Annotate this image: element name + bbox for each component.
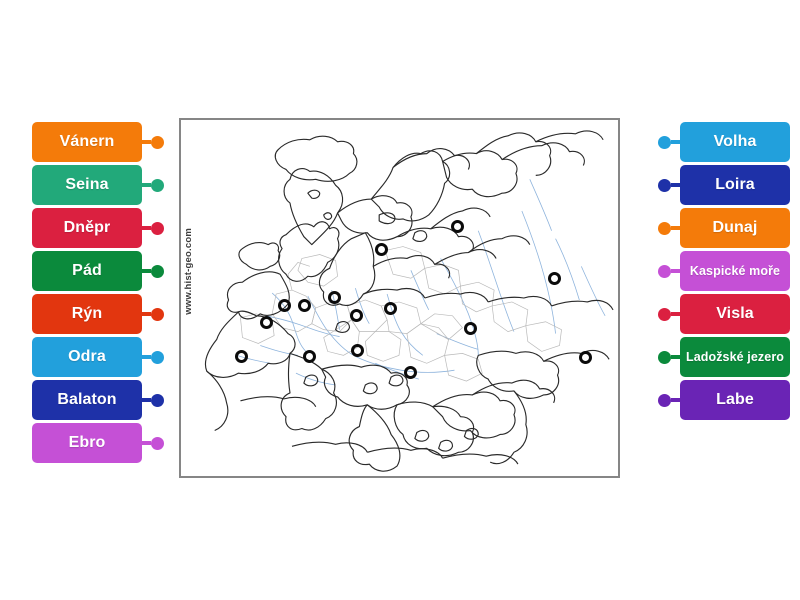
coastlines-layer xyxy=(206,131,614,471)
marker-rhine[interactable] xyxy=(298,299,311,312)
connector-line-icon xyxy=(142,312,151,316)
label-row[interactable]: Seina xyxy=(32,165,164,205)
connector-line-icon xyxy=(671,398,680,402)
left-connector-5[interactable] xyxy=(142,351,164,364)
label-row[interactable]: Odra xyxy=(32,337,164,377)
connector-line-icon xyxy=(142,355,151,359)
label-row[interactable]: Loira xyxy=(658,165,790,205)
right-label-chip-1[interactable]: Loira xyxy=(680,165,790,205)
right-label-column: VolhaLoiraDunajKaspické mořeVislaLadožsk… xyxy=(658,122,790,420)
connector-dot-icon[interactable] xyxy=(658,179,671,192)
connector-line-icon xyxy=(142,269,151,273)
left-connector-4[interactable] xyxy=(142,308,164,321)
connector-dot-icon[interactable] xyxy=(658,308,671,321)
connector-line-icon xyxy=(142,140,151,144)
marker-vanern[interactable] xyxy=(375,243,388,256)
left-label-chip-6[interactable]: Balaton xyxy=(32,380,142,420)
marker-ebro[interactable] xyxy=(235,350,248,363)
watermark-text: www.hist-geo.com xyxy=(183,228,194,315)
marker-seine[interactable] xyxy=(278,299,291,312)
map-frame[interactable]: 0 500 km xyxy=(179,118,620,478)
left-label-chip-7[interactable]: Ebro xyxy=(32,423,142,463)
label-row[interactable]: Vánern xyxy=(32,122,164,162)
right-label-chip-2[interactable]: Dunaj xyxy=(680,208,790,248)
connector-line-icon xyxy=(671,183,680,187)
left-label-column: VánernSeinaDněprPádRýnOdraBalatonEbro xyxy=(32,122,164,463)
left-label-chip-1[interactable]: Seina xyxy=(32,165,142,205)
left-connector-6[interactable] xyxy=(142,394,164,407)
marker-volga[interactable] xyxy=(548,272,561,285)
connector-dot-icon[interactable] xyxy=(658,222,671,235)
label-row[interactable]: Ladožské jezero xyxy=(658,337,790,377)
left-label-chip-3[interactable]: Pád xyxy=(32,251,142,291)
left-label-chip-0[interactable]: Vánern xyxy=(32,122,142,162)
left-connector-1[interactable] xyxy=(142,179,164,192)
connector-line-icon xyxy=(671,312,680,316)
right-label-chip-4[interactable]: Visla xyxy=(680,294,790,334)
marker-elbe[interactable] xyxy=(328,291,341,304)
marker-balaton[interactable] xyxy=(351,344,364,357)
connector-dot-icon[interactable] xyxy=(151,308,164,321)
marker-danube[interactable] xyxy=(404,366,417,379)
connector-dot-icon[interactable] xyxy=(658,265,671,278)
connector-dot-icon[interactable] xyxy=(658,394,671,407)
left-label-chip-5[interactable]: Odra xyxy=(32,337,142,377)
label-row[interactable]: Labe xyxy=(658,380,790,420)
connector-dot-icon[interactable] xyxy=(151,437,164,450)
connector-dot-icon[interactable] xyxy=(151,265,164,278)
label-row[interactable]: Dněpr xyxy=(32,208,164,248)
connector-line-icon xyxy=(142,226,151,230)
marker-dnepr[interactable] xyxy=(464,322,477,335)
left-label-chip-2[interactable]: Dněpr xyxy=(32,208,142,248)
left-connector-3[interactable] xyxy=(142,265,164,278)
marker-vistula[interactable] xyxy=(384,302,397,315)
marker-ladoga[interactable] xyxy=(451,220,464,233)
connector-line-icon xyxy=(671,226,680,230)
right-connector-6[interactable] xyxy=(658,394,680,407)
marker-loire[interactable] xyxy=(260,316,273,329)
label-row[interactable]: Dunaj xyxy=(658,208,790,248)
right-connector-5[interactable] xyxy=(658,351,680,364)
connector-dot-icon[interactable] xyxy=(151,136,164,149)
right-connector-4[interactable] xyxy=(658,308,680,321)
marker-caspian-sea[interactable] xyxy=(579,351,592,364)
connector-dot-icon[interactable] xyxy=(151,351,164,364)
connector-line-icon xyxy=(671,140,680,144)
connector-line-icon xyxy=(142,398,151,402)
right-label-chip-3[interactable]: Kaspické moře xyxy=(680,251,790,291)
left-connector-7[interactable] xyxy=(142,437,164,450)
connector-dot-icon[interactable] xyxy=(658,351,671,364)
marker-odra[interactable] xyxy=(350,309,363,322)
connector-line-icon xyxy=(671,269,680,273)
right-label-chip-6[interactable]: Labe xyxy=(680,380,790,420)
label-row[interactable]: Visla xyxy=(658,294,790,334)
marker-po[interactable] xyxy=(303,350,316,363)
left-label-chip-4[interactable]: Rýn xyxy=(32,294,142,334)
right-connector-1[interactable] xyxy=(658,179,680,192)
connector-dot-icon[interactable] xyxy=(151,222,164,235)
right-connector-0[interactable] xyxy=(658,136,680,149)
connector-dot-icon[interactable] xyxy=(658,136,671,149)
right-label-chip-5[interactable]: Ladožské jezero xyxy=(680,337,790,377)
right-connector-2[interactable] xyxy=(658,222,680,235)
label-row[interactable]: Volha xyxy=(658,122,790,162)
right-connector-3[interactable] xyxy=(658,265,680,278)
connector-dot-icon[interactable] xyxy=(151,179,164,192)
label-row[interactable]: Kaspické moře xyxy=(658,251,790,291)
left-connector-0[interactable] xyxy=(142,136,164,149)
connector-dot-icon[interactable] xyxy=(151,394,164,407)
left-connector-2[interactable] xyxy=(142,222,164,235)
europe-outline-map xyxy=(181,120,618,476)
label-row[interactable]: Rýn xyxy=(32,294,164,334)
connector-line-icon xyxy=(142,183,151,187)
connector-line-icon xyxy=(142,441,151,445)
label-row[interactable]: Pád xyxy=(32,251,164,291)
label-row[interactable]: Ebro xyxy=(32,423,164,463)
label-row[interactable]: Balaton xyxy=(32,380,164,420)
right-label-chip-0[interactable]: Volha xyxy=(680,122,790,162)
connector-line-icon xyxy=(671,355,680,359)
